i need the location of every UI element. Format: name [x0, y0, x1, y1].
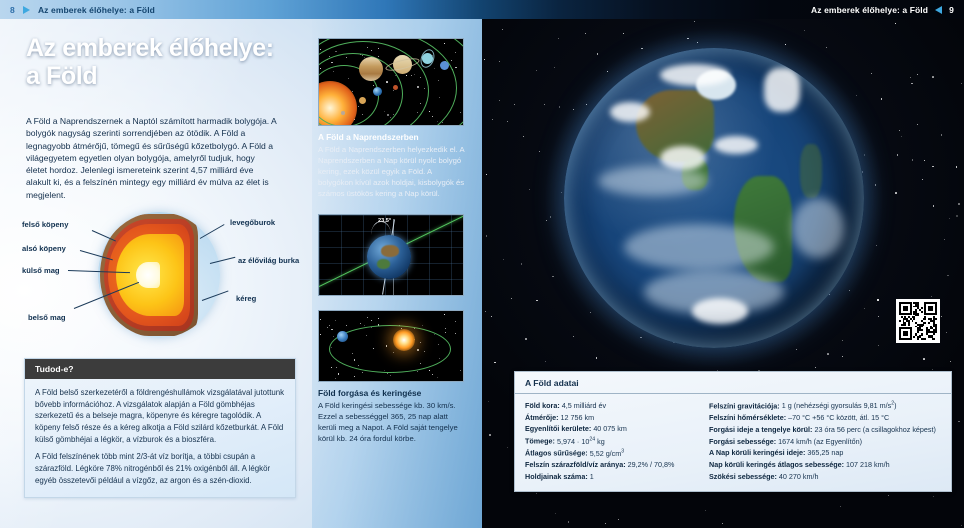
planet-venus — [359, 97, 366, 104]
earth-data-row: Átmérője: 12 756 km — [525, 412, 703, 424]
star — [842, 356, 843, 357]
earth-data-value: 1674 km/h (az Egyenlítőn) — [778, 437, 862, 446]
continent-shape — [377, 259, 390, 269]
earth-data-row: Felszíni hőmérséklete: –70 °C +56 °C köz… — [709, 412, 947, 424]
tilt-angle-label: 23,5° — [377, 218, 392, 224]
earth-data-label: Föld kora: — [525, 401, 562, 410]
star — [437, 377, 438, 378]
cloud-patch — [792, 198, 844, 258]
earth-data-value: –70 °C +56 °C között, átl. 15 °C — [788, 413, 889, 422]
earth-data-value: 5,52 g/cm3 — [590, 449, 624, 458]
star — [539, 151, 540, 152]
label-crust: kéreg — [236, 294, 256, 303]
did-you-know-box: Tudod-e? A Föld belső szerkezetéről a fö… — [24, 358, 296, 498]
cloud-band — [598, 166, 708, 196]
star — [327, 327, 328, 328]
star — [923, 358, 925, 360]
star — [568, 521, 569, 522]
intro-paragraph: A Föld a Naprendszernek a Naptól számíto… — [26, 115, 278, 201]
label-biosphere: az élővilág burka — [238, 256, 299, 265]
star — [486, 235, 488, 237]
tilted-earth-graphic — [367, 235, 411, 279]
planet-mars — [393, 85, 398, 90]
earth-data-value: 5,974 · 1024 kg — [557, 437, 605, 446]
earth-data-row: Föld kora: 4,5 milliárd év — [525, 400, 703, 412]
page-title-line1: Az emberek élőhelye: — [26, 34, 274, 62]
layer-inner-core — [136, 262, 160, 288]
star — [422, 325, 423, 326]
continent-shape — [381, 245, 399, 257]
star — [536, 300, 538, 302]
star — [335, 320, 336, 321]
earth-data-label: Felszíni hőmérséklete: — [709, 413, 788, 422]
cloud-band — [624, 224, 774, 270]
earth-data-value: 40 270 km/h — [779, 472, 819, 481]
star — [944, 239, 945, 240]
sun-graphic — [393, 329, 415, 351]
star — [360, 323, 361, 324]
qr-matrix — [899, 302, 937, 340]
star — [378, 318, 379, 319]
spread-page: Az emberek élőhelye: a Föld A Föld a Nap… — [0, 0, 964, 528]
star — [455, 333, 456, 334]
earth-data-value: 107 218 km/h — [846, 460, 890, 469]
star — [552, 276, 553, 277]
star — [932, 166, 934, 168]
earth-data-row: Felszín szárazföld/víz aránya: 29,2% / 7… — [525, 459, 703, 471]
star — [897, 154, 898, 155]
star — [362, 372, 363, 373]
star — [371, 320, 372, 321]
star — [618, 519, 620, 521]
earth-data-row: A Nap körüli keringési ideje: 365,25 nap — [709, 447, 947, 459]
star — [484, 59, 485, 60]
star — [958, 421, 959, 422]
star — [507, 121, 508, 122]
star — [494, 362, 496, 364]
star — [529, 189, 530, 190]
earth-data-value: 12 756 km — [561, 413, 595, 422]
star — [417, 371, 418, 372]
star — [536, 493, 537, 494]
star — [335, 378, 336, 379]
star — [605, 523, 606, 524]
star — [455, 321, 456, 322]
earth-data-value: 365,25 nap — [807, 448, 843, 457]
star — [911, 83, 912, 84]
triangle-right-icon[interactable] — [23, 6, 30, 14]
star — [558, 38, 559, 39]
star — [895, 192, 897, 194]
star — [878, 345, 880, 347]
page-title-line2: a Föld — [26, 62, 296, 90]
label-upper-mantle: felső köpeny — [22, 220, 68, 229]
star — [364, 325, 365, 326]
star — [445, 328, 446, 329]
star — [912, 159, 913, 160]
earth-data-label: Átlagos sűrűsége: — [525, 449, 590, 458]
star — [901, 136, 902, 137]
earth-data-row: Holdjainak száma: 1 — [525, 471, 703, 483]
figure-axial-tilt: 23,5° — [318, 214, 464, 296]
earth-data-label: Átmérője: — [525, 413, 561, 422]
star — [463, 73, 464, 74]
earth-data-label: Holdjainak száma: — [525, 472, 590, 481]
star — [554, 67, 555, 68]
star — [463, 338, 464, 339]
earth-data-row: Tömege: 5,974 · 1024 kg — [525, 435, 703, 447]
star — [888, 495, 889, 496]
star — [514, 104, 515, 105]
star — [961, 525, 962, 526]
star — [429, 370, 430, 371]
star — [815, 367, 816, 368]
orbit-path — [318, 38, 464, 126]
star — [336, 367, 337, 368]
planet-jupiter — [359, 57, 383, 81]
star — [623, 33, 624, 34]
planet-neptune — [440, 61, 449, 70]
star — [585, 33, 586, 34]
middle-column: A Föld a Naprendszerben A Föld a Naprend… — [318, 0, 470, 444]
earth-graphic — [337, 331, 348, 342]
earth-data-row: Egyenlítői kerülete: 40 075 km — [525, 423, 703, 435]
caption-solar-system-text: A Föld a Naprendszerben helyezkedik el. … — [318, 145, 468, 200]
star — [331, 329, 332, 330]
earth-data-heading: A Föld adatai — [515, 372, 951, 394]
star — [950, 361, 951, 362]
earth-data-value: 40 075 km — [593, 424, 627, 433]
earth-data-label: Szökési sebessége: — [709, 472, 779, 481]
star — [899, 130, 900, 131]
star — [877, 299, 878, 300]
star — [895, 23, 896, 24]
star — [931, 296, 932, 297]
star — [917, 124, 918, 125]
figure-solar-system — [318, 38, 464, 126]
earth-globe — [564, 48, 864, 348]
header-left-group: 8 Az emberek élőhelye: a Föld — [10, 0, 155, 19]
star — [941, 134, 942, 135]
cloud-patch — [714, 136, 758, 154]
star — [502, 29, 503, 30]
earth-data-value: 29,2% / 70,8% — [628, 460, 675, 469]
label-lower-mantle: alsó köpeny — [22, 244, 66, 253]
cloud-swirl — [692, 298, 748, 324]
star — [827, 353, 829, 355]
star — [499, 100, 500, 101]
earth-data-right-column: Felszíni gravitációja: 1 g (nehézségi gy… — [709, 400, 947, 483]
cloud-patch — [764, 68, 800, 112]
star — [346, 325, 347, 326]
did-you-know-heading: Tudod-e? — [25, 359, 295, 379]
did-you-know-paragraph-2: A Föld felszínének több mint 2/3-át víz … — [35, 451, 285, 486]
earth-data-value: 1 — [590, 472, 594, 481]
star — [949, 218, 950, 219]
star — [390, 375, 391, 376]
star — [486, 174, 487, 175]
cloud-patch — [610, 102, 650, 122]
caption-earth-orbit: Föld forgása és keringése A Föld keringé… — [318, 388, 468, 445]
earth-data-label: Tömege: — [525, 437, 557, 446]
earth-data-row: Forgási sebessége: 1674 km/h (az Egyenlí… — [709, 436, 947, 448]
page-title: Az emberek élőhelye: a Föld — [26, 34, 296, 90]
earth-data-table: A Föld adatai Föld kora: 4,5 milliárd év… — [514, 371, 952, 492]
star — [947, 275, 949, 277]
land-west-africa-edge — [800, 144, 822, 198]
triangle-left-icon[interactable] — [935, 6, 942, 14]
earth-cross-section-diagram: felső köpeny alsó köpeny külső mag belső… — [10, 208, 310, 340]
planet-mercury — [341, 111, 345, 115]
earth-data-value: 23 óra 56 perc (a csillagokhoz képest) — [814, 425, 935, 434]
star — [941, 316, 942, 317]
star — [485, 311, 487, 313]
star — [338, 373, 339, 374]
star — [367, 317, 368, 318]
star — [722, 523, 723, 524]
star — [932, 76, 934, 78]
star — [523, 136, 525, 138]
star — [536, 70, 538, 72]
star — [525, 338, 526, 339]
cutaway-wedge — [100, 214, 198, 336]
star — [333, 336, 334, 337]
caption-earth-orbit-text: A Föld keringési sebessége kb. 30 km/s. … — [318, 401, 468, 445]
earth-data-value: 1 g (nehézségi gyorsulás 9,81 m/s2) — [782, 401, 897, 410]
figure-earth-orbit — [318, 310, 464, 382]
earth-data-label: Nap körüli keringés átlagos sebessége: — [709, 460, 846, 469]
earth-data-label: A Nap körüli keringési ideje: — [709, 448, 807, 457]
star — [956, 215, 958, 217]
earth-data-value: 4,5 milliárd év — [562, 401, 606, 410]
earth-data-row: Nap körüli keringés átlagos sebessége: 1… — [709, 459, 947, 471]
orbit-ellipse — [329, 325, 451, 373]
star — [881, 98, 883, 100]
did-you-know-paragraph-1: A Föld belső szerkezetéről a földrengésh… — [35, 387, 285, 445]
star — [320, 319, 321, 320]
star — [933, 496, 934, 497]
star — [499, 61, 500, 62]
earth-data-label: Egyenlítői kerülete: — [525, 424, 593, 433]
earth-data-left-column: Föld kora: 4,5 milliárd évÁtmérője: 12 7… — [525, 400, 703, 483]
star — [489, 434, 491, 436]
star — [460, 370, 461, 371]
header-right-title: Az emberek élőhelye: a Föld — [811, 5, 928, 15]
label-outer-core: külső mag — [22, 266, 60, 275]
earth-data-label: Forgási ideje a tengelye körül: — [709, 425, 814, 434]
header-left-title: Az emberek élőhelye: a Föld — [38, 5, 155, 15]
earth-data-row: Forgási ideje a tengelye körül: 23 óra 5… — [709, 424, 947, 436]
did-you-know-body: A Föld belső szerkezetéről a földrengésh… — [25, 379, 295, 497]
right-page-number: 9 — [949, 5, 954, 15]
earth-data-label: Felszín szárazföld/víz aránya: — [525, 460, 628, 469]
earth-data-row: Szökési sebessége: 40 270 km/h — [709, 471, 947, 483]
cloud-patch — [660, 64, 730, 86]
star — [705, 510, 706, 511]
star — [521, 263, 522, 264]
star — [445, 332, 446, 333]
page-header-bar: 8 Az emberek élőhelye: a Föld Az emberek… — [0, 0, 964, 19]
qr-code[interactable] — [896, 299, 940, 343]
star — [555, 513, 556, 514]
star — [331, 367, 332, 368]
star — [922, 179, 923, 180]
star — [961, 83, 962, 84]
star — [329, 325, 330, 326]
caption-earth-orbit-title: Föld forgása és keringése — [318, 388, 468, 398]
star — [878, 316, 879, 317]
earth-data-row: Átlagos sűrűsége: 5,52 g/cm3 — [525, 447, 703, 459]
star — [694, 21, 695, 22]
star — [924, 160, 925, 161]
star — [559, 106, 561, 108]
star — [910, 77, 911, 78]
star — [545, 361, 546, 362]
star — [840, 506, 841, 507]
earth-data-label: Felszíni gravitációja: — [709, 401, 782, 410]
star — [958, 203, 960, 205]
earth-sphere-graphic — [98, 212, 220, 338]
earth-data-columns: Föld kora: 4,5 milliárd évÁtmérője: 12 7… — [515, 394, 951, 491]
star — [503, 259, 504, 260]
star — [354, 376, 355, 377]
star — [596, 357, 598, 359]
star — [933, 205, 935, 207]
star — [320, 334, 321, 335]
left-page-number: 8 — [10, 5, 15, 15]
star — [917, 74, 919, 76]
star — [444, 314, 445, 315]
planet-earth — [373, 87, 382, 96]
star — [897, 155, 898, 156]
header-right-group: Az emberek élőhelye: a Föld 9 — [811, 0, 954, 19]
earth-from-space-photo — [564, 48, 864, 348]
star — [956, 166, 958, 168]
earth-data-label: Forgási sebessége: — [709, 437, 778, 446]
star — [491, 316, 492, 317]
label-inner-core: belső mag — [28, 313, 66, 322]
star — [432, 374, 433, 375]
caption-solar-system: A Föld a Naprendszerben A Föld a Naprend… — [318, 132, 468, 200]
label-atmosphere: levegőburok — [230, 218, 275, 227]
star — [511, 298, 512, 299]
star — [871, 73, 872, 74]
star — [507, 447, 508, 448]
star — [544, 104, 545, 105]
caption-solar-system-title: A Föld a Naprendszerben — [318, 132, 468, 142]
earth-data-row: Felszíni gravitációja: 1 g (nehézségi gy… — [709, 400, 947, 412]
star — [946, 332, 947, 333]
star — [488, 401, 489, 402]
